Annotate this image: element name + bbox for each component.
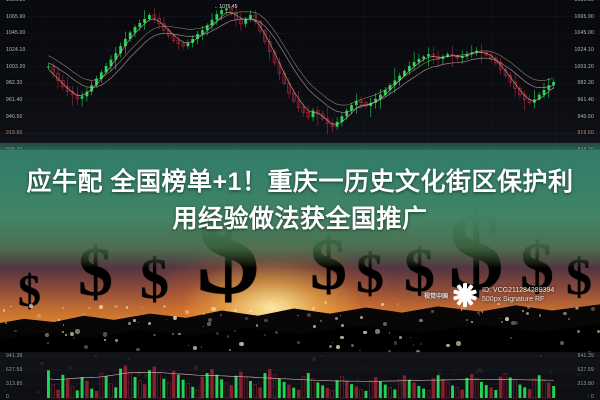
sparkle-dot [245,317,248,320]
sparkle-dot [227,335,230,338]
axis-tick-label: 1086.80 [6,0,25,3]
sparkle-dot [249,310,251,312]
sparkle-dot [229,349,232,352]
sparkle-dot [70,332,74,336]
sparkle-dot [514,321,518,325]
sparkle-dot [178,333,181,336]
axis-tick-label: 982.30 [578,80,595,86]
axis-tick-label: 313.80 [578,381,595,387]
sparkle-dot [479,314,480,315]
axis-tick-label: 1003.20 [6,64,25,70]
image-canvas: $$$$$$$$$$ 1086.801065.901045.001024.101… [0,0,600,400]
sparkle-dot [332,342,333,343]
sparkle-dot [420,343,422,345]
axis-tick-label: 919.60 [6,130,23,136]
axis-tick-label: 898.70 [578,147,595,150]
sparkle-dot [275,331,278,334]
sparkle-dot [75,329,80,334]
sparkle-dot [3,309,5,311]
sparkle-dot [522,310,524,312]
axis-tick-label: 940.50 [578,114,595,120]
sparkle-dot [216,332,219,335]
sparkle-dot [185,310,188,313]
sparkle-dot [360,316,363,319]
sparkle-dot [389,332,390,333]
axis-tick-label: 1024.10 [6,47,25,53]
sparkle-dot [220,314,222,316]
sparkle-dot [505,317,509,321]
sparkle-dot [227,309,228,310]
axis-tick-label: 898.70 [6,147,23,150]
watermark-id: ID: VCG211284289394 [482,286,554,295]
sparkle-dot [501,321,503,323]
sparkle-dot [203,326,204,327]
sparkle-dot [482,311,484,313]
sparkle-dot [83,314,85,316]
sparkle-dot [115,339,118,342]
sparkle-dot [133,319,136,322]
sparkle-dot [526,312,529,315]
sparkle-dot [201,346,202,347]
price-chart-svg [0,0,600,150]
sparkle-dot [461,309,462,310]
sparkle-dot [341,324,344,327]
sparkle-dot [65,334,67,336]
price-peak-annotation: ←1076.45 [214,4,237,10]
headline-line-1: 应牛配 全国榜单+1！重庆一历史文化街区保护利 [12,164,588,201]
sparkle-dot [312,307,315,310]
axis-tick-label: 0 [6,394,9,400]
sparkle-dot [383,322,387,326]
sparkle-dot [335,317,338,320]
sparkle-dot [114,305,118,309]
axis-tick-label: 627.59 [6,367,23,373]
axis-tick-label: 1003.20 [575,64,594,70]
sparkle-dot [410,337,411,338]
sparkle-dot [211,307,215,311]
sparkle-dot [99,305,103,309]
axis-tick-label: 1024.10 [575,47,594,53]
vcg-burst-icon [452,282,478,308]
sparkle-dot [208,318,212,322]
sparkle-dot [456,341,460,345]
sparkle-dot [510,337,513,340]
sparkle-dot [320,320,322,322]
sparkle-dot [103,332,108,337]
sparkle-dot [45,333,49,337]
axis-tick-label: 961.40 [578,97,595,103]
axis-tick-label: 1045.00 [6,30,25,36]
volume-chart-panel: 941.39627.59313.800 941.39627.59313.800 [0,352,600,400]
sparkle-dot [166,319,167,320]
sparkle-dot [153,334,155,336]
sparkle-dot [499,318,500,319]
sparkle-dot [207,322,210,325]
axis-tick-label: 1045.00 [575,30,594,36]
sparkle-dot [73,337,74,338]
axis-tick-label: 1065.90 [6,14,25,20]
sparkle-dot [141,307,142,308]
sparkle-dot [340,336,343,339]
sparkle-dot [336,345,340,349]
sparkle-dot [172,333,174,335]
sparkle-dot [136,348,139,351]
sparkle-dot [269,301,271,303]
sparkle-dot [235,306,236,307]
sparkle-dot [381,303,384,306]
sparkle-dot [104,339,106,341]
axis-tick-label: 1065.90 [575,14,594,20]
sparkle-dot [264,319,268,323]
sparkle-dot [88,307,90,309]
sparkle-dot [394,341,398,345]
sparkle-dot [126,306,128,308]
axis-tick-label: 982.30 [6,80,23,86]
sparkle-dot [471,321,473,323]
sparkle-dot [297,341,300,344]
sparkle-dot [560,341,564,345]
watermark: 视觉中国 ID: VCG211284289394 500px Signature… [424,282,554,308]
sparkle-dot [272,303,273,304]
sparkle-dot [375,329,380,334]
axis-tick-label: 0 [591,394,594,400]
sparkle-dot [37,314,40,317]
sparkle-dot [458,330,459,331]
sparkle-dot [47,342,49,344]
sparkle-dot [234,309,237,312]
sparkle-dot [62,307,64,309]
sparkle-dot [399,336,402,339]
sparkle-dot [351,344,354,347]
sparkle-dot [14,330,16,332]
headline-line-2: 用经验做法获全国推广 [12,201,588,238]
sparkle-dot [148,322,151,325]
sparkle-dot [62,331,64,333]
sparkle-dot [313,325,316,328]
sparkle-dot [297,315,298,316]
sparkle-dot [597,330,600,333]
sparkle-dot [397,303,400,306]
watermark-license: 500px Signature RF [482,295,554,304]
sparkle-dot [256,324,258,326]
page-title: 应牛配 全国榜单+1！重庆一历史文化街区保护利 用经验做法获全国推广 [12,164,588,238]
sparkle-dot [413,344,415,346]
watermark-text-block: ID: VCG211284289394 500px Signature RF [482,286,554,304]
sparkle-dot [577,330,581,334]
sparkle-dot [324,301,327,304]
axis-tick-label: 313.80 [6,381,23,387]
sparkle-dot [340,315,341,316]
sparkle-dot [591,307,595,311]
axis-tick-label: 961.40 [6,97,23,103]
sparkle-dot [539,314,541,316]
volume-chart-svg [0,352,600,400]
sparkle-dot [568,318,570,320]
sparkle-dot [234,330,236,332]
sparkle-dot [188,345,189,346]
sparkle-dot [193,346,197,350]
sparkle-dot [84,345,88,349]
sparkle-dot [5,322,7,324]
axis-tick-label: 941.39 [6,353,23,359]
sparkle-dot [563,312,567,316]
sparkle-dot [163,305,166,308]
sparkle-dot [329,345,332,348]
axis-tick-label: 627.59 [578,367,595,373]
sparkle-dot [138,322,140,324]
sparkle-dot [307,313,311,317]
vcg-logo-text: 视觉中国 [424,291,448,300]
sparkle-dot [203,313,205,315]
sparkle-dot [29,304,33,308]
burst-center [461,291,469,299]
price-chart-panel: 1086.801065.901045.001024.101003.20982.3… [0,0,600,150]
sparkle-dot [431,310,434,313]
axis-tick-label: 1086.80 [575,0,594,3]
sparkle-dot [63,324,65,326]
axis-tick-label: 919.60 [578,130,595,136]
sparkle-dot [10,306,11,307]
sparkle-dot [239,342,244,347]
sparkle-dot [466,319,468,321]
sparkle-dot [363,331,366,334]
sparkle-dot [128,322,131,325]
sparkle-dot [446,344,450,348]
sparkle-dot [553,309,554,310]
sparkle-dot [58,319,60,321]
sparkle-dot [173,316,177,320]
axis-tick-label: 940.50 [6,114,23,120]
axis-tick-label: 941.39 [578,353,595,359]
sparkle-dot [419,319,422,322]
sparkle-dot [264,334,266,336]
